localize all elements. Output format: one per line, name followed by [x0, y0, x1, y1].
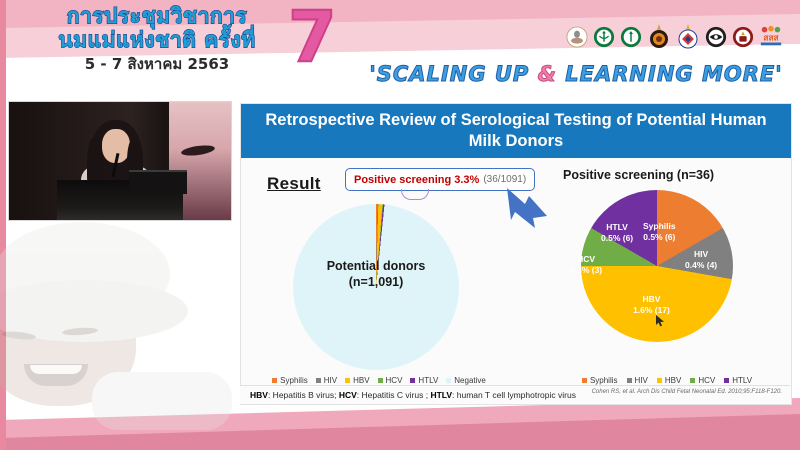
legend-swatch-hcv	[378, 378, 383, 383]
legend2-item-htlv[interactable]: HTLV	[724, 376, 752, 385]
potential-donors-legend: Syphilis HIV HBV HCV HTLV Negative	[281, 376, 477, 385]
laptop	[129, 170, 187, 194]
temple-emblem-logo	[647, 24, 671, 50]
slice-value-hiv: 0.4% (4)	[685, 260, 717, 271]
tagline-part1: 'SCALING UP	[369, 62, 537, 86]
legend2-item-hbv[interactable]: HBV	[657, 376, 681, 385]
slide-footer: HBV: Hepatitis B virus; HCV: Hepatitis C…	[240, 385, 790, 404]
royal-college-logo	[732, 26, 754, 48]
legend2-swatch-syphilis	[582, 378, 587, 383]
mouse-cursor-icon	[656, 315, 665, 327]
conference-tagline: 'SCALING UP & LEARNING MORE'	[358, 62, 794, 86]
slice-name-hiv: HIV	[685, 249, 717, 260]
legend2-swatch-hiv	[627, 378, 632, 383]
legend-swatch-negative	[446, 378, 451, 383]
royal-crest-logo	[676, 24, 700, 50]
presentation-screen: การประชุมวิชาการ นมแม่แห่งชาติ ครั้งที่ …	[0, 0, 800, 450]
potential-donors-pie-label: Potential donors (n=1,091)	[293, 258, 459, 290]
slice-label-hbv: HBV 1.6% (17)	[633, 294, 670, 316]
royal-seal-logo	[566, 26, 588, 48]
garuda-emblem-logo	[705, 26, 727, 48]
slice-name-syphilis: Syphilis	[643, 221, 676, 232]
legend2-label-htlv: HTLV	[732, 376, 752, 385]
thaihealth-sss-logo: สสส	[759, 24, 783, 50]
svg-text:สสส: สสส	[763, 33, 779, 43]
legend-label-negative: Negative	[454, 376, 486, 385]
department-health-logo	[620, 26, 642, 48]
legend-label-syphilis: Syphilis	[280, 376, 308, 385]
abbrev-htlv-val: : human T cell lymphotropic virus	[452, 390, 576, 400]
legend-swatch-syphilis	[272, 378, 277, 383]
slice-name-htlv: HTLV	[601, 222, 633, 233]
legend2-label-hiv: HIV	[635, 376, 648, 385]
slice-value-htlv: 0.5% (6)	[601, 233, 633, 244]
legend-label-hiv: HIV	[324, 376, 337, 385]
source-citation: Cohen RS, et al. Arch Dis Child Fetal Ne…	[592, 389, 782, 395]
conference-header: การประชุมวิชาการ นมแม่แห่งชาติ ครั้งที่ …	[0, 0, 800, 96]
legend2-swatch-hbv	[657, 378, 662, 383]
legend-item-htlv[interactable]: HTLV	[410, 376, 438, 385]
legend-swatch-hiv	[316, 378, 321, 383]
legend-item-hbv[interactable]: HBV	[345, 376, 369, 385]
conference-title-block: การประชุมวิชาการ นมแม่แห่งชาติ ครั้งที่ …	[22, 4, 292, 74]
slice-label-hcv: HCV 0.3% (3)	[570, 254, 602, 276]
positive-screening-legend: Syphilis HIV HBV HCV HTLV	[559, 376, 775, 385]
tagline-ampersand: &	[538, 62, 557, 86]
slice-label-htlv: HTLV 0.5% (6)	[601, 222, 633, 244]
slide-panel: Retrospective Review of Serological Test…	[240, 103, 792, 405]
abbrev-hcv-key: HCV	[339, 390, 357, 400]
legend2-swatch-htlv	[724, 378, 729, 383]
conference-edition-number: 7	[288, 2, 337, 72]
positive-screening-pie-title: Positive screening (n=36)	[563, 168, 773, 182]
slice-name-hcv: HCV	[570, 254, 602, 265]
legend-swatch-hbv	[345, 378, 350, 383]
abbrev-htlv-key: HTLV	[430, 390, 452, 400]
callout-fraction: (36/1091)	[483, 174, 526, 185]
abbrev-hbv-key: HBV	[250, 390, 268, 400]
result-heading: Result	[267, 174, 321, 194]
potential-donors-title: Potential donors	[293, 258, 459, 274]
callout-percent: Positive screening 3.3%	[354, 174, 479, 186]
legend2-swatch-hcv	[690, 378, 695, 383]
flow-arrow-icon	[503, 186, 551, 230]
legend-item-hcv[interactable]: HCV	[378, 376, 403, 385]
legend-label-hbv: HBV	[353, 376, 369, 385]
legend2-item-hiv[interactable]: HIV	[627, 376, 648, 385]
legend-item-negative[interactable]: Negative	[446, 376, 486, 385]
conference-title-line1: การประชุมวิชาการ	[22, 4, 292, 28]
legend-item-syphilis[interactable]: Syphilis	[272, 376, 308, 385]
slide-title: Retrospective Review of Serological Test…	[241, 104, 791, 158]
slice-name-hbv: HBV	[633, 294, 670, 305]
abbreviation-note: HBV: Hepatitis B virus; HCV: Hepatitis C…	[240, 390, 576, 400]
callout-brace	[401, 189, 429, 200]
baby-shirt	[92, 372, 232, 430]
speaker-video-feed[interactable]	[8, 101, 232, 221]
legend2-item-syphilis[interactable]: Syphilis	[582, 376, 618, 385]
slice-label-hiv: HIV 0.4% (4)	[685, 249, 717, 271]
abbrev-hbv-val: : Hepatitis B virus;	[268, 390, 339, 400]
legend2-item-hcv[interactable]: HCV	[690, 376, 715, 385]
legend-item-hiv[interactable]: HIV	[316, 376, 337, 385]
legend2-label-hcv: HCV	[698, 376, 715, 385]
tagline-part2: LEARNING MORE'	[557, 62, 783, 86]
legend2-label-syphilis: Syphilis	[590, 376, 618, 385]
abbrev-hcv-val: : Hepatitis C virus ;	[357, 390, 431, 400]
legend-label-htlv: HTLV	[418, 376, 438, 385]
ministry-public-health-logo	[593, 26, 615, 48]
conference-date: 5 - 7 สิงหาคม 2563	[22, 54, 292, 74]
sponsor-logo-row: สสส	[566, 24, 783, 50]
slice-value-syphilis: 0.5% (6)	[643, 232, 676, 243]
slice-value-hcv: 0.3% (3)	[570, 265, 602, 276]
baby-teeth	[30, 365, 82, 374]
conference-title-line2: นมแม่แห่งชาติ ครั้งที่	[22, 28, 292, 52]
baby-watermark-image	[0, 222, 232, 418]
potential-donors-subtitle: (n=1,091)	[293, 274, 459, 290]
legend-label-hcv: HCV	[386, 376, 403, 385]
slice-label-syphilis: Syphilis 0.5% (6)	[643, 221, 676, 243]
legend-swatch-htlv	[410, 378, 415, 383]
legend2-label-hbv: HBV	[665, 376, 681, 385]
